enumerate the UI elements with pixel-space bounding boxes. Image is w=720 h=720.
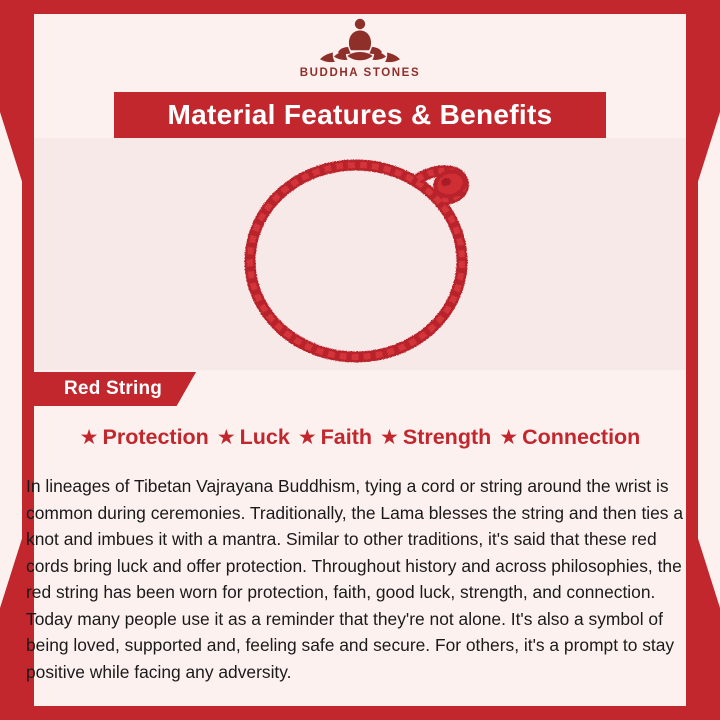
frame-bottom-strip	[0, 706, 720, 720]
frame-top-strip	[0, 0, 720, 14]
feature-label: Protection	[103, 425, 209, 450]
star-icon: ★	[217, 427, 236, 448]
page-title: Material Features & Benefits	[168, 99, 553, 131]
feature-item: ★ Luck	[217, 425, 290, 450]
product-label-tab: Red String	[34, 372, 196, 406]
product-label: Red String	[64, 378, 162, 400]
red-string-bracelet-image	[210, 139, 510, 369]
feature-label: Strength	[403, 425, 491, 450]
feature-label: Faith	[321, 425, 372, 450]
feature-list: ★ Protection ★ Luck ★ Faith ★ Strength ★…	[34, 418, 686, 456]
frame-left-notch	[0, 112, 22, 608]
lotus-meditation-figure-icon	[308, 14, 412, 66]
feature-label: Luck	[240, 425, 290, 450]
feature-item: ★ Protection	[80, 425, 209, 450]
page-title-banner: Material Features & Benefits	[114, 92, 606, 138]
feature-item: ★ Strength	[380, 425, 491, 450]
infographic-page: BUDDHA STONES Material Features & Benefi…	[0, 0, 720, 720]
feature-item: ★ Connection	[499, 425, 640, 450]
brand-logo: BUDDHA STONES	[0, 14, 720, 92]
star-icon: ★	[80, 427, 99, 448]
star-icon: ★	[298, 427, 317, 448]
star-icon: ★	[499, 427, 518, 448]
hero-image-area	[34, 138, 686, 370]
brand-name: BUDDHA STONES	[300, 67, 420, 79]
description-block: In lineages of Tibetan Vajrayana Buddhis…	[22, 456, 706, 703]
feature-label: Connection	[522, 425, 640, 450]
star-icon: ★	[380, 427, 399, 448]
description-text: In lineages of Tibetan Vajrayana Buddhis…	[26, 473, 702, 685]
feature-item: ★ Faith	[298, 425, 372, 450]
